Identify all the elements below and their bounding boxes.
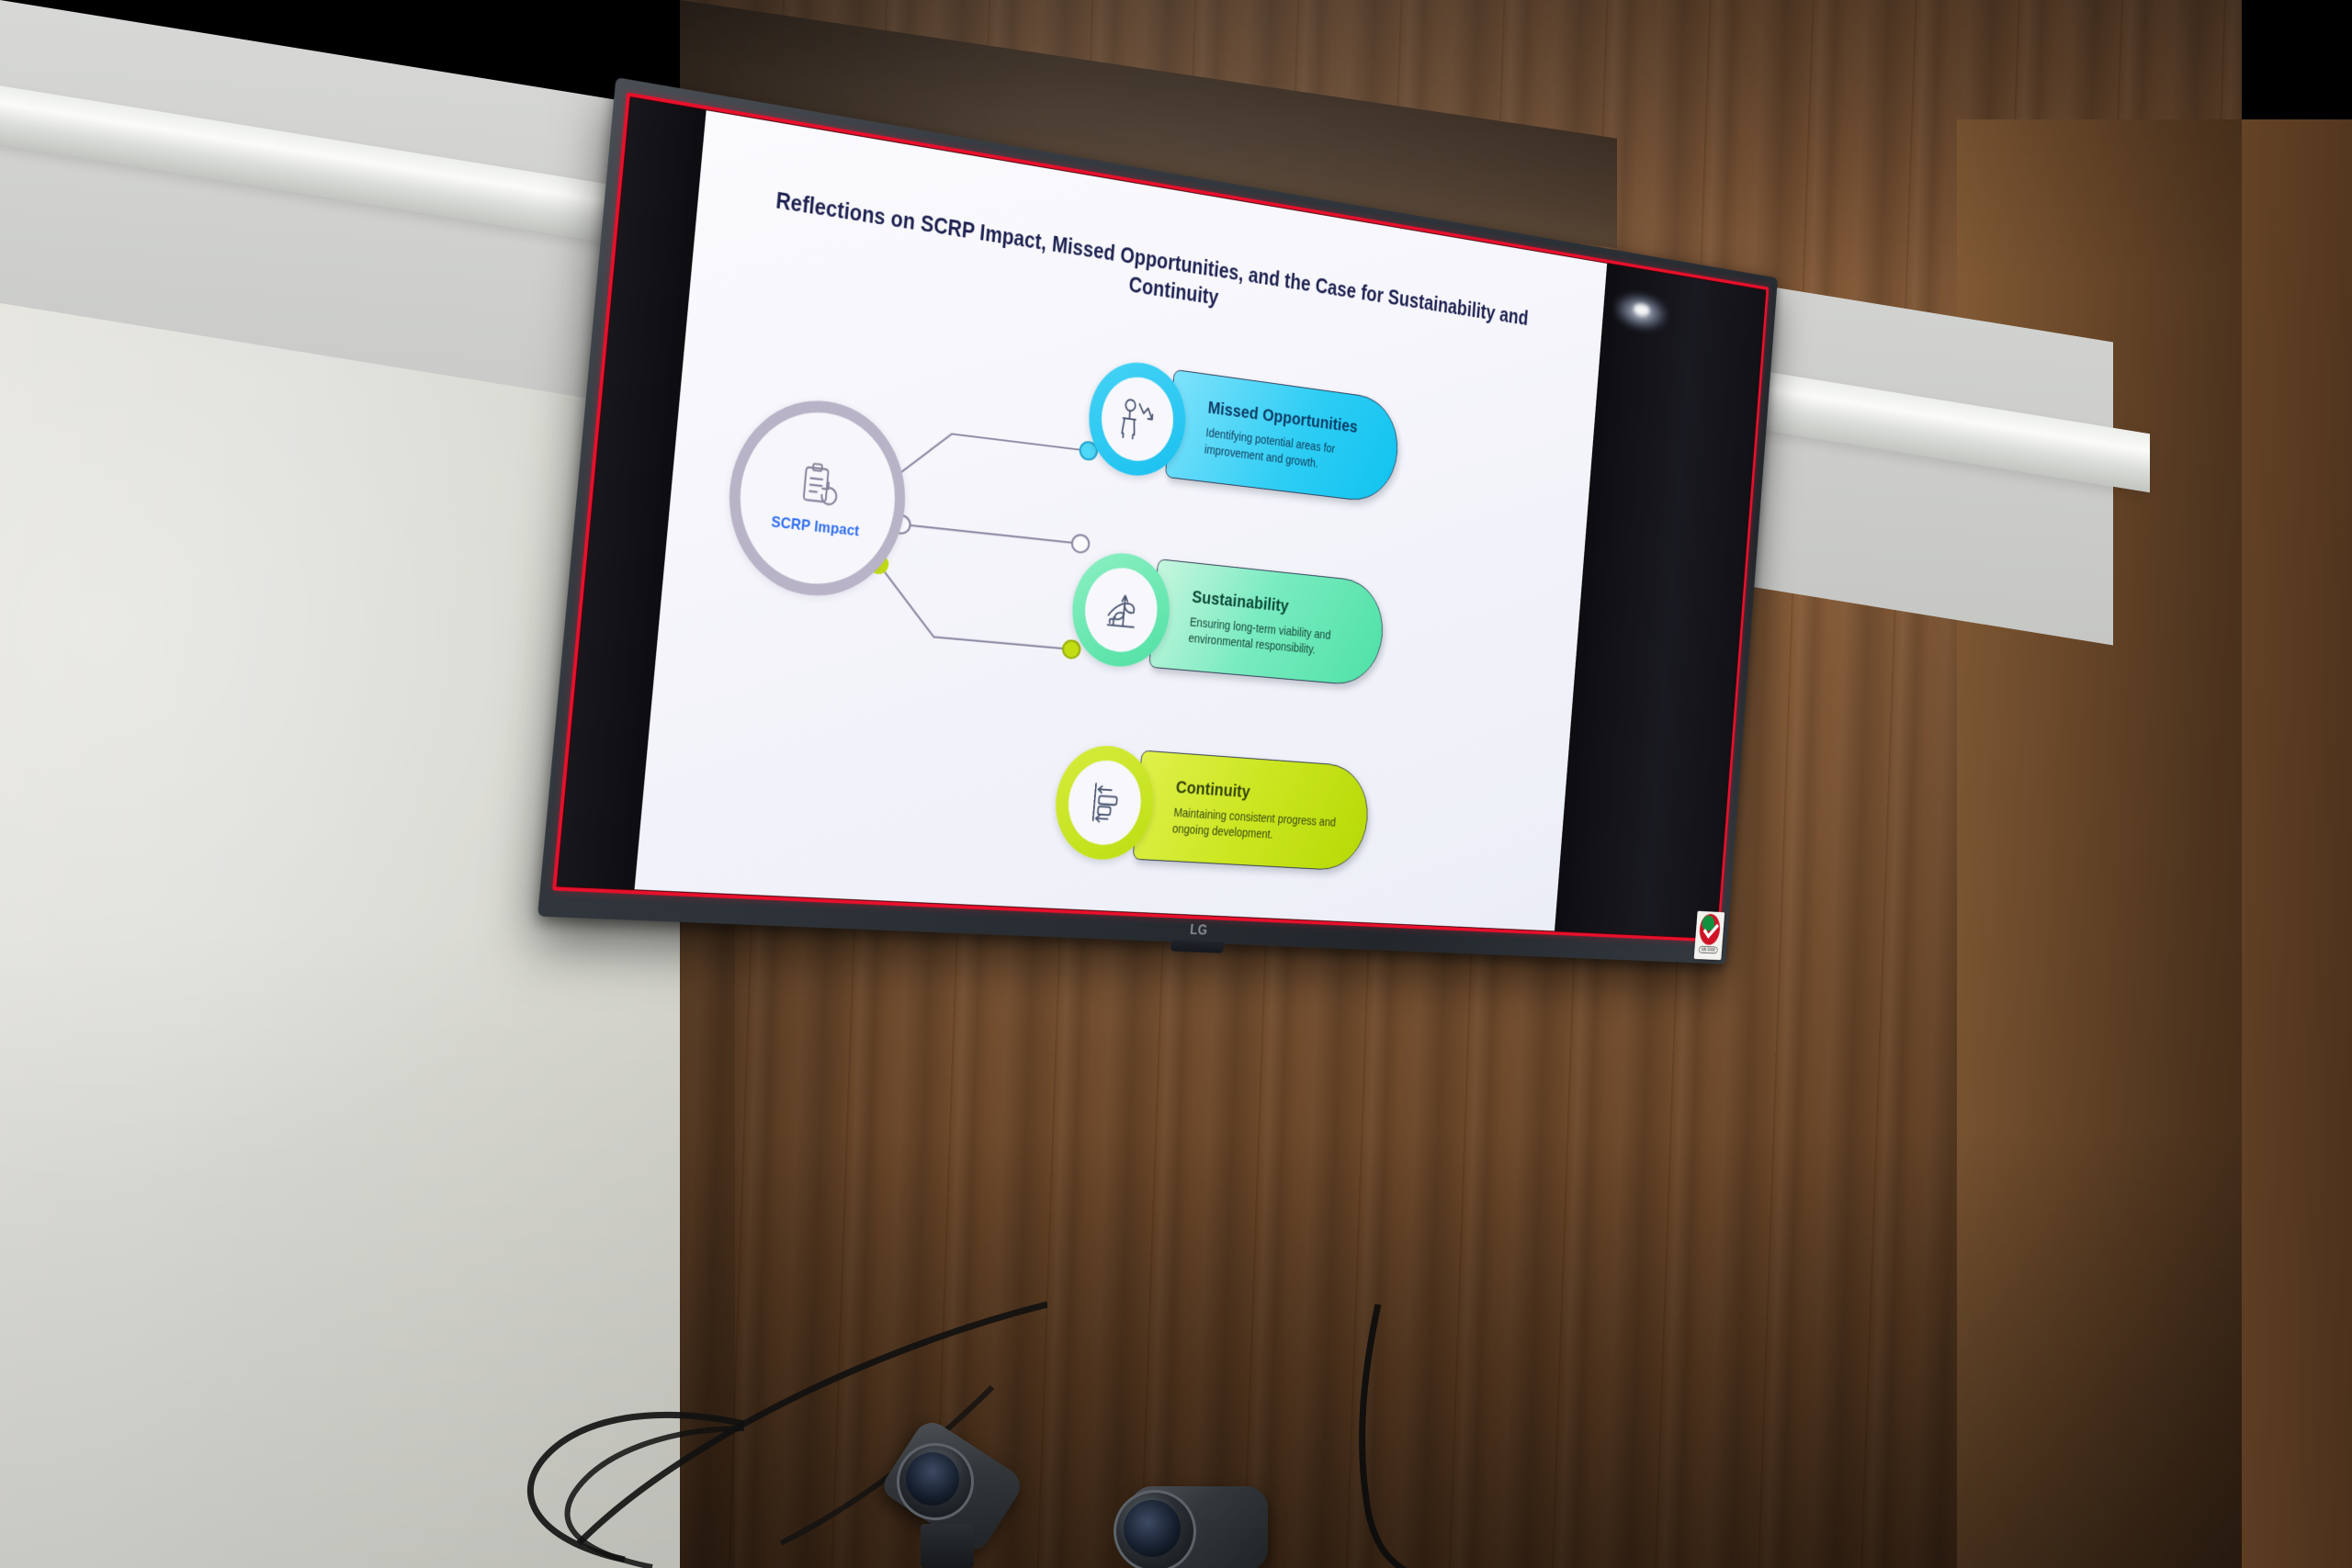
presentation-slide[interactable]: Reflections on SCRP Impact, Missed Oppor…	[634, 110, 1607, 931]
lg-brand-logo: LG	[1190, 921, 1209, 939]
card-description: Ensuring long-term viability and environ…	[1188, 615, 1365, 663]
person-declining-arrow-icon	[1114, 390, 1161, 447]
hub-label: SCRP Impact	[771, 513, 860, 541]
power-cable	[1268, 1304, 1543, 1568]
certification-sticker: NB-0008	[1694, 911, 1725, 960]
certification-code: NB-0008	[1699, 946, 1718, 953]
card-continuity[interactable]: Continuity Maintaining consistent progre…	[1051, 742, 1372, 874]
gantt-timeline-icon	[1080, 775, 1129, 829]
card-body: Sustainability Ensuring long-term viabil…	[1149, 559, 1387, 688]
checkmark-seal-icon	[1699, 913, 1721, 945]
card-body: Continuity Maintaining consistent progre…	[1133, 750, 1373, 873]
ptz-camera-left	[873, 1428, 1057, 1568]
screenshot-root: Reflections on SCRP Impact, Missed Oppor…	[0, 0, 2352, 1568]
card-title: Continuity	[1175, 777, 1352, 809]
slide-diagram: SCRP Impact	[634, 110, 1607, 931]
growing-plant-icon	[1097, 582, 1145, 637]
clipboard-refresh-icon	[793, 458, 844, 515]
ptz-camera-right	[1093, 1479, 1286, 1568]
card-description: Maintaining consistent progress and ongo…	[1171, 805, 1350, 848]
tv-ir-sensor-nub	[1170, 940, 1224, 953]
